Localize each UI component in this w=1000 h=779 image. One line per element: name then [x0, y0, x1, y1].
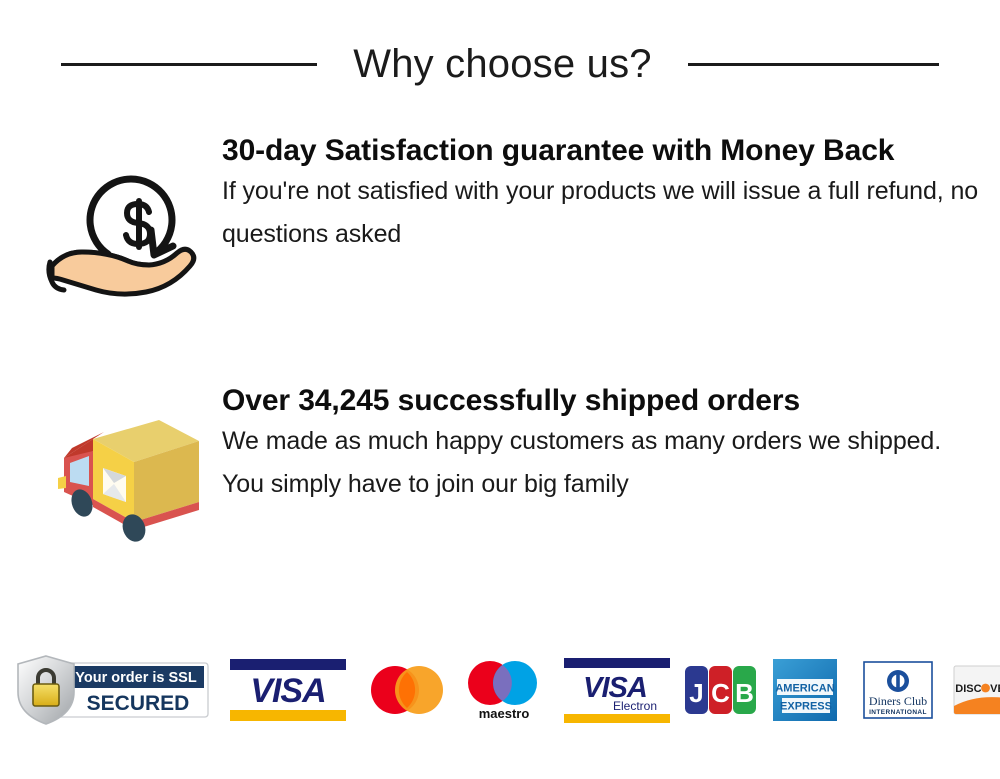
discover-badge: DISCOVER — [952, 664, 1000, 716]
feature-money-back: 30-day Satisfaction guarantee with Money… — [30, 132, 985, 306]
diners-line2: INTERNATIONAL — [869, 709, 927, 716]
header-rule-left — [61, 63, 317, 66]
ssl-secured-badge: Your order is SSL SECURED — [16, 652, 212, 728]
feature-money-back-body: 30-day Satisfaction guarantee with Money… — [222, 132, 985, 256]
why-choose-us-panel: Why choose us? 30-day Satisfaction guara… — [0, 0, 1000, 779]
section-header: Why choose us? — [0, 33, 1000, 95]
american-express-badge: AMERICAN EXPRESS — [770, 657, 840, 723]
jcb-letter-c: C — [711, 678, 730, 708]
discover-label: DISCOVER — [955, 683, 1000, 695]
ssl-band-text: Your order is SSL — [75, 670, 197, 686]
maestro-label: maestro — [479, 706, 530, 721]
delivery-truck-icon — [30, 382, 222, 546]
feature-description: We made as much happy customers as many … — [222, 420, 967, 506]
visa-badge: VISA — [226, 657, 350, 723]
diners-line1: Diners Club — [869, 694, 927, 708]
jcb-letter-b: B — [735, 678, 754, 708]
payment-badges-strip: Your order is SSL SECURED VISA — [0, 645, 1000, 735]
money-back-hand-icon — [30, 132, 222, 306]
maestro-badge: maestro — [458, 657, 550, 723]
ssl-secured-text: SECURED — [87, 692, 190, 715]
visa-label: VISA — [250, 672, 325, 710]
header-rule-right — [688, 63, 939, 66]
page-title: Why choose us? — [353, 44, 652, 84]
visa-electron-badge: VISA Electron — [560, 655, 674, 725]
feature-shipped-orders: Over 34,245 successfully shipped orders … — [30, 382, 985, 546]
jcb-badge: J C B — [684, 664, 758, 716]
visa-electron-sublabel: Electron — [613, 699, 657, 713]
amex-line2: EXPRESS — [780, 701, 832, 713]
feature-title: Over 34,245 successfully shipped orders — [222, 382, 985, 420]
feature-title: 30-day Satisfaction guarantee with Money… — [222, 132, 985, 170]
mastercard-badge — [364, 662, 450, 718]
feature-description: If you're not satisfied with your produc… — [222, 170, 982, 256]
amex-line1: AMERICAN — [775, 683, 834, 695]
diners-club-badge: Diners Club INTERNATIONAL — [862, 660, 934, 720]
jcb-letter-j: J — [689, 678, 703, 708]
feature-shipped-orders-body: Over 34,245 successfully shipped orders … — [222, 382, 985, 506]
